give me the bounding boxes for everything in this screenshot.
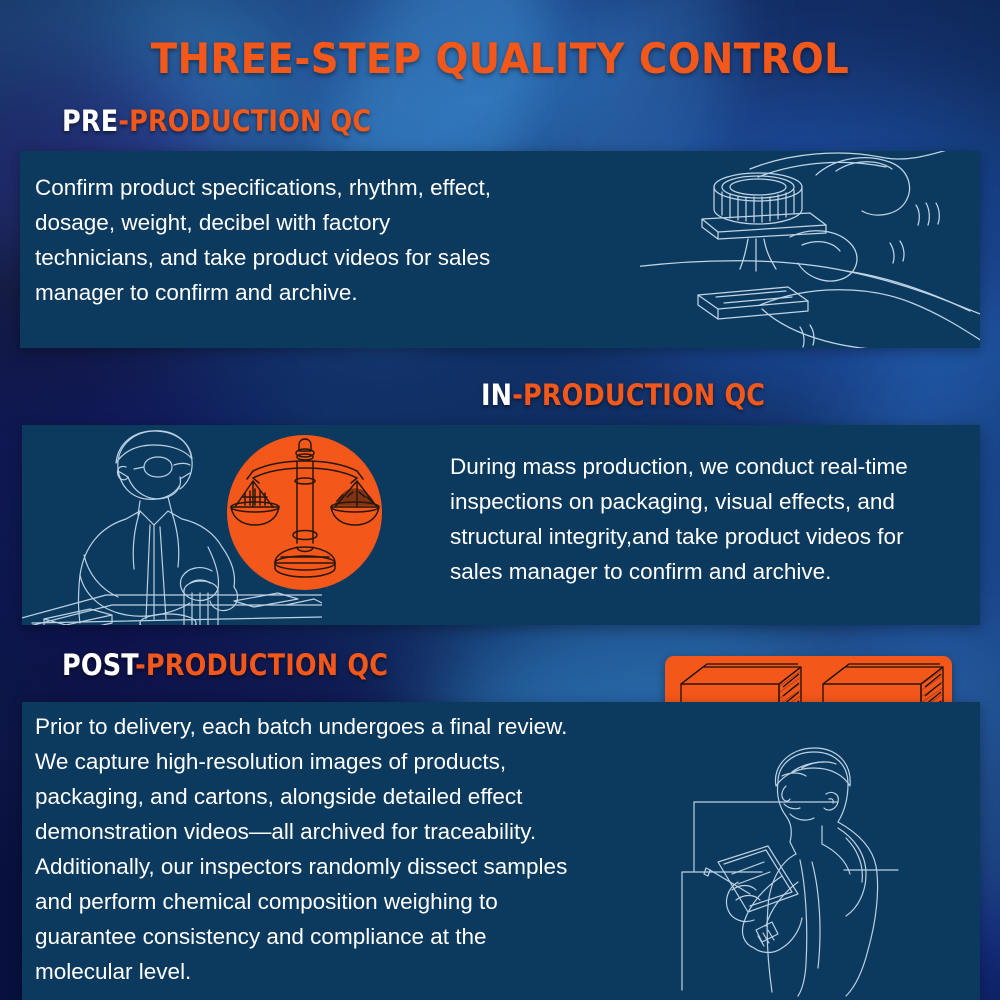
- hands-holding-product-sketch: [640, 151, 980, 348]
- panel-in-body: During mass production, we conduct real-…: [450, 449, 980, 589]
- panel-in-line-1: During mass production, we conduct real-…: [450, 449, 980, 484]
- panel-pre-line-4: manager to confirm and archive.: [35, 275, 605, 310]
- panel-post-line-2: We capture high-resolution images of pro…: [35, 744, 675, 779]
- panel-post-line-3: packaging, and cartons, alongside detail…: [35, 779, 675, 814]
- panel-post-body: Prior to delivery, each batch undergoes …: [35, 709, 675, 989]
- infographic-canvas: THREE-STEP QUALITY CONTROL PRE-PRODUCTIO…: [0, 0, 1000, 1000]
- panel-post-line-1: Prior to delivery, each batch undergoes …: [35, 709, 675, 744]
- heading-pre-orange: -PRODUCTION QC: [118, 104, 371, 138]
- panel-pre-body: Confirm product specifications, rhythm, …: [35, 170, 605, 310]
- heading-post-orange: -PRODUCTION QC: [135, 648, 388, 682]
- panel-in-line-2: inspections on packaging, visual effects…: [450, 484, 980, 519]
- panel-post-line-6: and perform chemical composition weighin…: [35, 884, 675, 919]
- heading-post-white: POST: [62, 648, 135, 682]
- panel-pre-line-1: Confirm product specifications, rhythm, …: [35, 170, 605, 205]
- heading-pre-white: PRE: [62, 104, 118, 138]
- section-heading-post: POST-PRODUCTION QC: [62, 648, 388, 682]
- panel-pre-production: Confirm product specifications, rhythm, …: [20, 151, 980, 348]
- panel-pre-line-2: dosage, weight, decibel with factory: [35, 205, 605, 240]
- panel-post-line-8: molecular level.: [35, 954, 675, 989]
- panel-post-line-7: guarantee consistency and compliance at …: [35, 919, 675, 954]
- heading-in-orange: -PRODUCTION QC: [512, 378, 765, 412]
- page-title: THREE-STEP QUALITY CONTROL: [40, 34, 960, 83]
- panel-in-line-4: sales manager to confirm and archive.: [450, 554, 980, 589]
- section-heading-pre: PRE-PRODUCTION QC: [62, 104, 371, 138]
- panel-post-production: Prior to delivery, each batch undergoes …: [22, 702, 980, 1000]
- panel-post-line-4: demonstration videos—all archived for tr…: [35, 814, 675, 849]
- panel-post-line-5: Additionally, our inspectors randomly di…: [35, 849, 675, 884]
- section-heading-in: IN-PRODUCTION QC: [481, 378, 765, 412]
- panel-pre-line-3: technicians, and take product videos for…: [35, 240, 605, 275]
- heading-in-white: IN: [481, 378, 512, 412]
- panel-in-production: During mass production, we conduct real-…: [22, 425, 980, 625]
- balance-scale-icon: [227, 435, 382, 590]
- inspector-with-tablet-sketch: [632, 742, 980, 1000]
- balance-scale-circle: [227, 435, 382, 590]
- panel-in-line-3: structural integrity,and take product vi…: [450, 519, 980, 554]
